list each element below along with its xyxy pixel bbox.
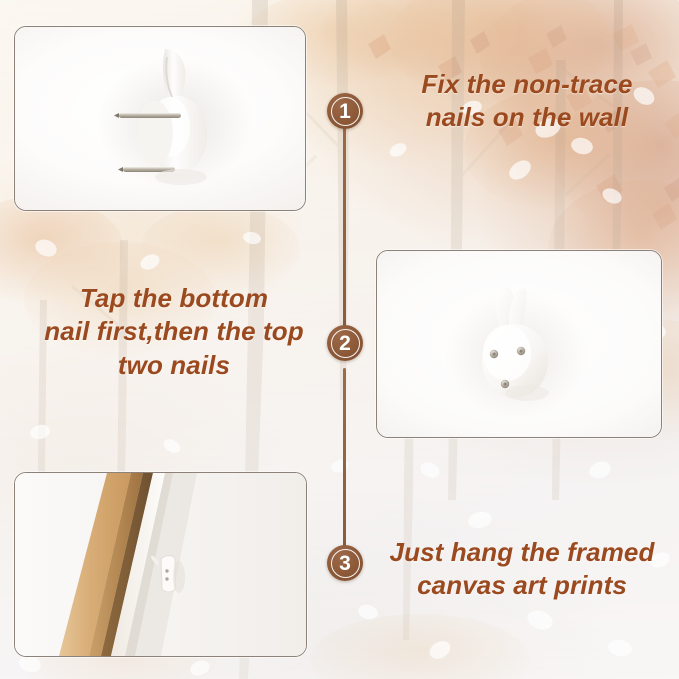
step-3-number: 3 [339,553,351,574]
step-2-caption: Tap the bottom nail first,then the top t… [30,282,318,382]
framed-canvas-and-hook-illustration [15,473,306,656]
step-1-caption: Fix the non-trace nails on the wall [392,68,662,135]
connector-line-2-3 [343,368,346,553]
instruction-graphic: 1 2 3 Fix the non-trace nails on the wal… [0,0,679,679]
hook-with-nails-illustration [15,27,305,210]
step-2-badge: 2 [327,325,363,361]
step-1-badge: 1 [327,93,363,129]
step-3-caption: Just hang the framed canvas art prints [372,536,672,603]
step-1-number: 1 [339,101,351,122]
step-1-photo-panel [14,26,306,211]
mounted-rabbit-hook-illustration [377,251,661,437]
step-3-badge: 3 [327,545,363,581]
step-3-photo [15,473,306,656]
step-3-photo-panel [14,472,307,657]
step-2-photo [377,251,661,437]
connector-line-1-2 [343,118,346,333]
step-1-photo [15,27,305,210]
step-2-number: 2 [339,333,351,354]
step-2-photo-panel [376,250,662,438]
